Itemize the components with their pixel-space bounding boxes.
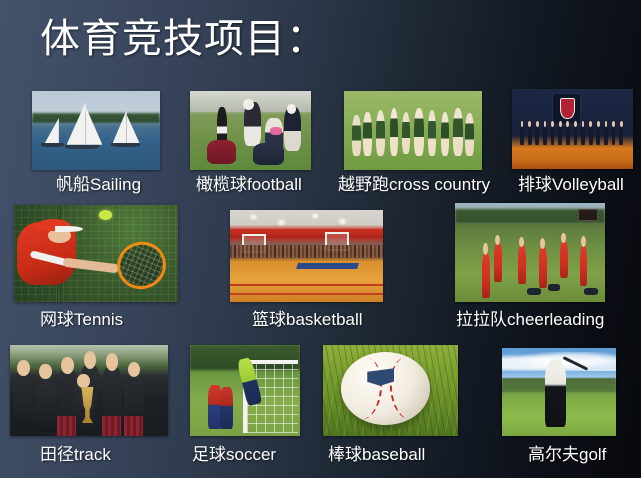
- sailboats-photo: [32, 91, 160, 170]
- volleyball-caption: 排球Volleyball: [518, 175, 624, 195]
- golf-image[interactable]: [502, 348, 616, 436]
- soccer-goalkeeper-photo: [190, 345, 300, 436]
- track-team-trophy-photo: [10, 345, 168, 436]
- tennis-player-photo: [14, 205, 178, 302]
- page-title: 体育竞技项目：: [40, 13, 327, 65]
- gym-crowd: [230, 245, 383, 258]
- basketball-image[interactable]: [230, 210, 383, 302]
- soccer-caption: 足球soccer: [192, 445, 276, 465]
- tennis-caption: 网球Tennis: [40, 310, 123, 330]
- baseball-icon: [341, 352, 430, 425]
- sailing-image[interactable]: [32, 91, 160, 170]
- cross-country-runners-photo: [344, 91, 482, 170]
- cheerleading-image[interactable]: [455, 203, 605, 302]
- player-cap: [37, 219, 70, 232]
- football-image[interactable]: [190, 91, 311, 170]
- baseball-caption: 棒球baseball: [328, 445, 425, 465]
- golfer: [545, 362, 566, 427]
- basketball-gym-photo: [230, 210, 383, 302]
- baseball-image[interactable]: [323, 345, 458, 436]
- team-rows: [518, 124, 627, 145]
- player-two: [220, 387, 233, 429]
- scoreboard: [578, 209, 598, 221]
- tennis-image[interactable]: [14, 205, 178, 302]
- cross-country-image[interactable]: [344, 91, 482, 170]
- golf-caption: 高尔夫golf: [528, 445, 606, 465]
- volleyball-team-photo: [512, 89, 633, 169]
- gym-mat: [296, 263, 359, 269]
- school-shield-icon: [560, 98, 575, 119]
- baseball-in-grass-photo: [323, 345, 458, 436]
- track-caption: 田径track: [40, 445, 111, 465]
- basketball-caption: 篮球basketball: [252, 310, 363, 330]
- track-image[interactable]: [10, 345, 168, 436]
- golfer-cap: [550, 359, 563, 366]
- golfer-swing-photo: [502, 348, 616, 436]
- cheerleading-caption: 拉拉队cheerleading: [456, 310, 604, 330]
- tennis-ball-icon: [99, 210, 112, 220]
- volleyball-image[interactable]: [512, 89, 633, 169]
- cross-country-caption: 越野跑cross country: [338, 175, 490, 195]
- presentation-slide: 体育竞技项目： 帆船Sailing: [0, 0, 641, 478]
- american-football-photo: [190, 91, 311, 170]
- football-caption: 橄榄球football: [196, 175, 302, 195]
- soccer-image[interactable]: [190, 345, 300, 436]
- sailing-caption: 帆船Sailing: [56, 175, 141, 195]
- cheerleaders-photo: [455, 203, 605, 302]
